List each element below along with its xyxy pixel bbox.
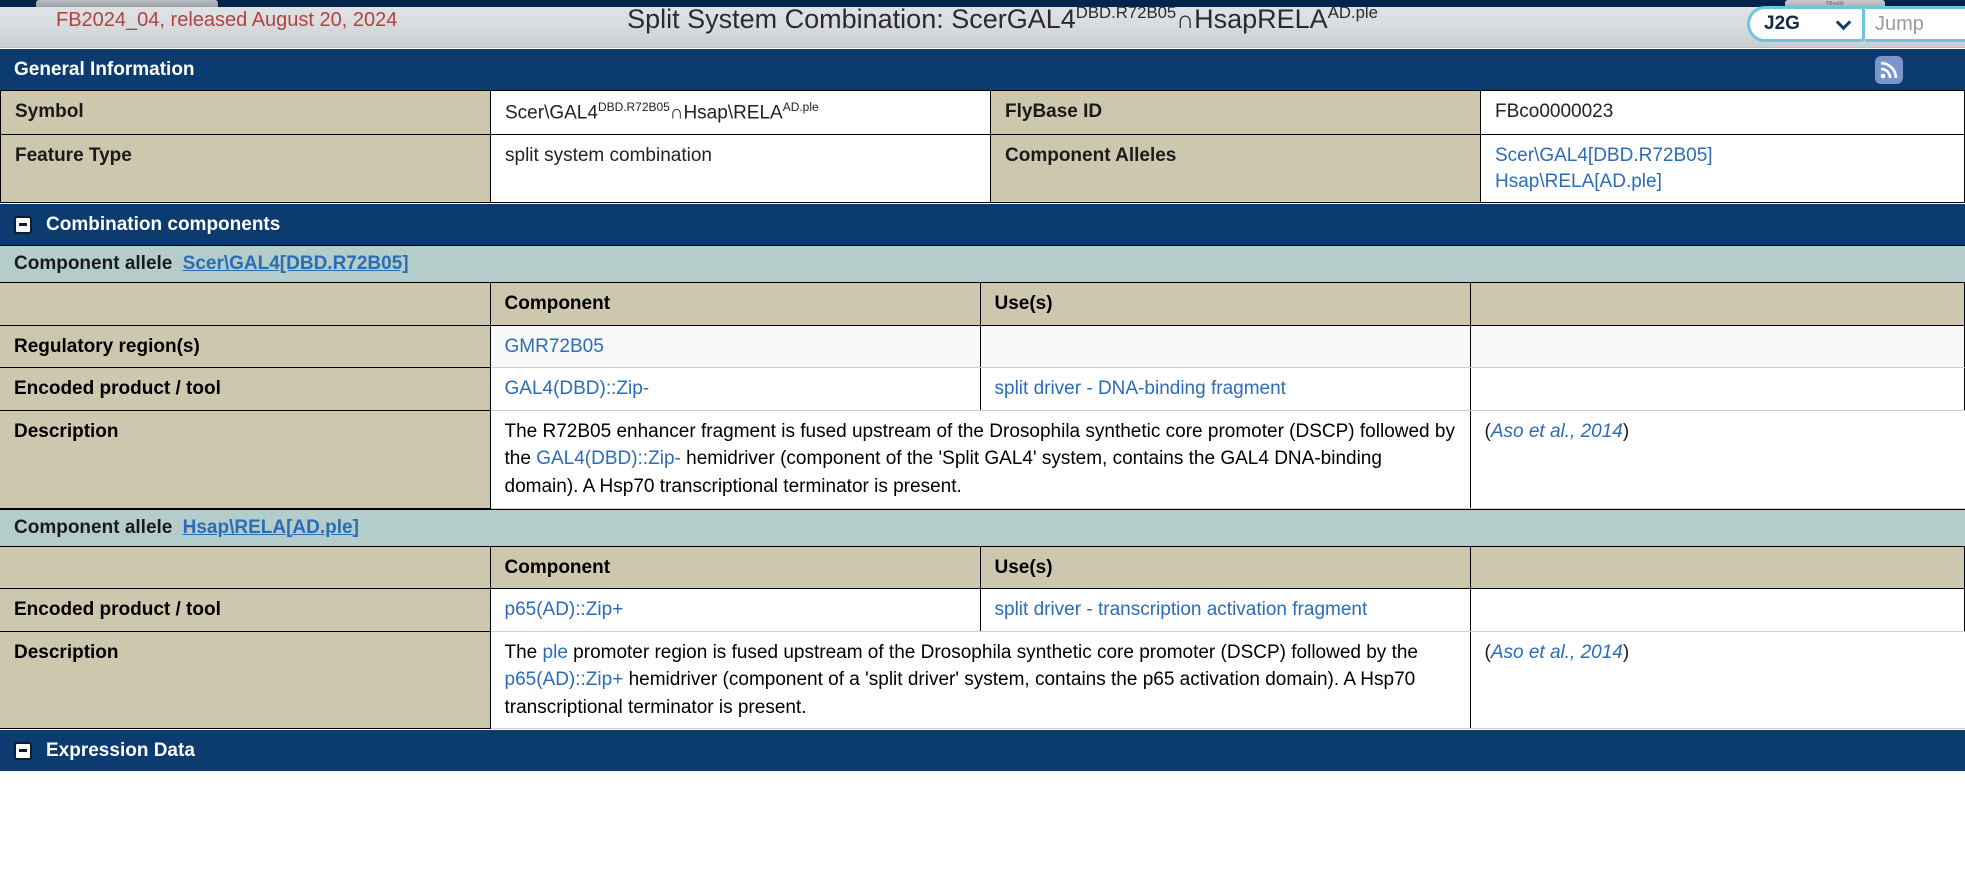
jump-search-input[interactable]: Jump [1865, 6, 1965, 42]
row-value-component-alleles: Scer\GAL4[DBD.R72B05] Hsap\RELA[AD.ple] [1481, 134, 1965, 202]
component-table-2: Component Use(s) Encoded product / tool … [0, 547, 1965, 730]
link-p65-ad-zip-inline[interactable]: p65(AD)::Zip+ [505, 669, 624, 690]
table-row: Component Use(s) [0, 547, 1965, 589]
rss-feed-icon[interactable] [1875, 56, 1903, 84]
column-header-uses-2: Use(s) [980, 547, 1470, 589]
table-row: Feature Type split system combination Co… [1, 134, 1965, 202]
component-table-1: Component Use(s) Regulatory region(s) GM… [0, 283, 1965, 508]
description2-part-1b: promoter region is fused upstream of the… [568, 642, 1418, 663]
row-label-feature-type: Feature Type [1, 134, 491, 202]
row-value-symbol: Scer\GAL4DBD.R72B05∩Hsap\RELAAD.ple [491, 91, 991, 135]
section-title-general-information: General Information [14, 59, 195, 81]
jump-to-gene-widget: J2G Jump [1747, 6, 1965, 42]
link-use-dna-binding-fragment[interactable]: split driver - DNA-binding fragment [995, 378, 1286, 399]
cell-cite-empty-2 [1470, 589, 1965, 632]
cell-description-1: The R72B05 enhancer fragment is fused up… [490, 410, 1470, 508]
column-header-uses: Use(s) [980, 283, 1470, 325]
section-title-expression-data: Expression Data [46, 740, 195, 762]
symbol-prefix: Scer\GAL4 [505, 102, 598, 123]
collapse-minus-icon[interactable] [14, 216, 32, 234]
symbol-superscript-1: DBD.R72B05 [598, 100, 670, 114]
chevron-down-icon [1836, 15, 1852, 31]
paren-close: ) [1623, 421, 1629, 442]
cell-citation-2: (Aso et al., 2014) [1470, 631, 1965, 729]
page-title-mid: HsapRELA [1194, 4, 1328, 34]
description2-part-2: hemidriver (component of a 'split driver… [505, 669, 1416, 718]
spacer-cell [0, 283, 490, 325]
cell-component-gmr72b05: GMR72B05 [490, 325, 980, 368]
link-gal4-dbd-zip[interactable]: GAL4(DBD)::Zip- [505, 378, 650, 399]
cell-citation-1: (Aso et al., 2014) [1470, 410, 1965, 508]
section-header-combination-components[interactable]: Combination components [0, 203, 1965, 245]
component-allele-prefix-1: Component allele [14, 253, 172, 274]
column-header-component-2: Component [490, 547, 980, 589]
link-use-transcription-activation-fragment[interactable]: split driver - transcription activation … [995, 599, 1368, 620]
row-value-flybase-id: FBco0000023 [1481, 91, 1965, 135]
jump-mode-value: J2G [1764, 13, 1800, 35]
column-header-blank-2 [1470, 547, 1965, 589]
cell-description-2: The ple promoter region is fused upstrea… [490, 631, 1470, 729]
description2-part-1: The [505, 642, 543, 663]
row-label-symbol: Symbol [1, 91, 491, 135]
link-gmr72b05[interactable]: GMR72B05 [505, 336, 604, 357]
link-component-allele-gal4[interactable]: Scer\GAL4[DBD.R72B05] [1495, 145, 1713, 166]
component-allele-prefix-2: Component allele [14, 517, 172, 538]
component-allele-link-2[interactable]: Hsap\RELA[AD.ple] [183, 517, 359, 538]
component-allele-link-1[interactable]: Scer\GAL4[DBD.R72B05] [183, 253, 409, 274]
collapse-minus-icon[interactable] [14, 742, 32, 760]
table-row: Regulatory region(s) GMR72B05 [0, 325, 1965, 368]
cell-component-gal4dbd: GAL4(DBD)::Zip- [490, 368, 980, 411]
page-title-superscript-2: AD.ple [1328, 3, 1378, 22]
link-component-allele-rela[interactable]: Hsap\RELA[AD.ple] [1495, 171, 1662, 192]
link-p65-ad-zip[interactable]: p65(AD)::Zip+ [505, 599, 624, 620]
jump-mode-select[interactable]: J2G [1747, 6, 1865, 42]
cell-component-p65ad: p65(AD)::Zip+ [490, 589, 980, 632]
table-row: Description The R72B05 enhancer fragment… [0, 410, 1965, 508]
link-gal4-dbd-zip-inline[interactable]: GAL4(DBD)::Zip- [536, 448, 681, 469]
intersection-symbol: ∩ [1176, 7, 1194, 34]
component-allele-header-1: Component allele Scer\GAL4[DBD.R72B05] [0, 245, 1965, 283]
cell-uses-split-driver-dna: split driver - DNA-binding fragment [980, 368, 1470, 411]
section-header-general-information[interactable]: General Information [0, 48, 1965, 90]
row-label-description-1: Description [0, 410, 490, 508]
link-ple[interactable]: ple [543, 642, 568, 663]
component-allele-header-2: Component allele Hsap\RELA[AD.ple] [0, 509, 1965, 547]
link-citation-aso-2014-b[interactable]: Aso et al., 2014 [1491, 642, 1623, 663]
cell-uses-empty [980, 325, 1470, 368]
section-title-combination-components: Combination components [46, 214, 280, 236]
spacer-cell [0, 547, 490, 589]
link-citation-aso-2014-a[interactable]: Aso et al., 2014 [1491, 421, 1623, 442]
cell-cite-empty [1470, 368, 1965, 411]
browser-top-bar: FBco00 FB2024_04, released August 20, 20… [0, 0, 1965, 48]
row-label-description-2: Description [0, 631, 490, 729]
general-information-table: Symbol Scer\GAL4DBD.R72B05∩Hsap\RELAAD.p… [0, 90, 1965, 203]
table-row: Encoded product / tool GAL4(DBD)::Zip- s… [0, 368, 1965, 411]
column-header-blank [1470, 283, 1965, 325]
cell-cite-empty [1470, 325, 1965, 368]
cell-uses-split-driver-activation: split driver - transcription activation … [980, 589, 1470, 632]
row-label-regulatory-regions: Regulatory region(s) [0, 325, 490, 368]
row-label-encoded-product-2: Encoded product / tool [0, 589, 490, 632]
row-label-encoded-product-1: Encoded product / tool [0, 368, 490, 411]
table-row: Encoded product / tool p65(AD)::Zip+ spl… [0, 589, 1965, 632]
symbol-mid: ∩Hsap\RELA [670, 102, 783, 123]
row-label-component-alleles: Component Alleles [991, 134, 1481, 202]
table-row: Description The ple promoter region is f… [0, 631, 1965, 729]
page-title: Split System Combination: ScerGAL4DBD.R7… [0, 3, 1965, 35]
page-title-prefix: Split System Combination: ScerGAL4 [627, 4, 1076, 34]
row-value-feature-type: split system combination [491, 134, 991, 202]
paren-close-2: ) [1623, 642, 1629, 663]
table-row: Component Use(s) [0, 283, 1965, 325]
symbol-superscript-2: AD.ple [783, 100, 819, 114]
section-header-expression-data[interactable]: Expression Data [0, 729, 1965, 771]
row-label-flybase-id: FlyBase ID [991, 91, 1481, 135]
table-row: Symbol Scer\GAL4DBD.R72B05∩Hsap\RELAAD.p… [1, 91, 1965, 135]
page-title-superscript-1: DBD.R72B05 [1076, 3, 1176, 22]
column-header-component: Component [490, 283, 980, 325]
